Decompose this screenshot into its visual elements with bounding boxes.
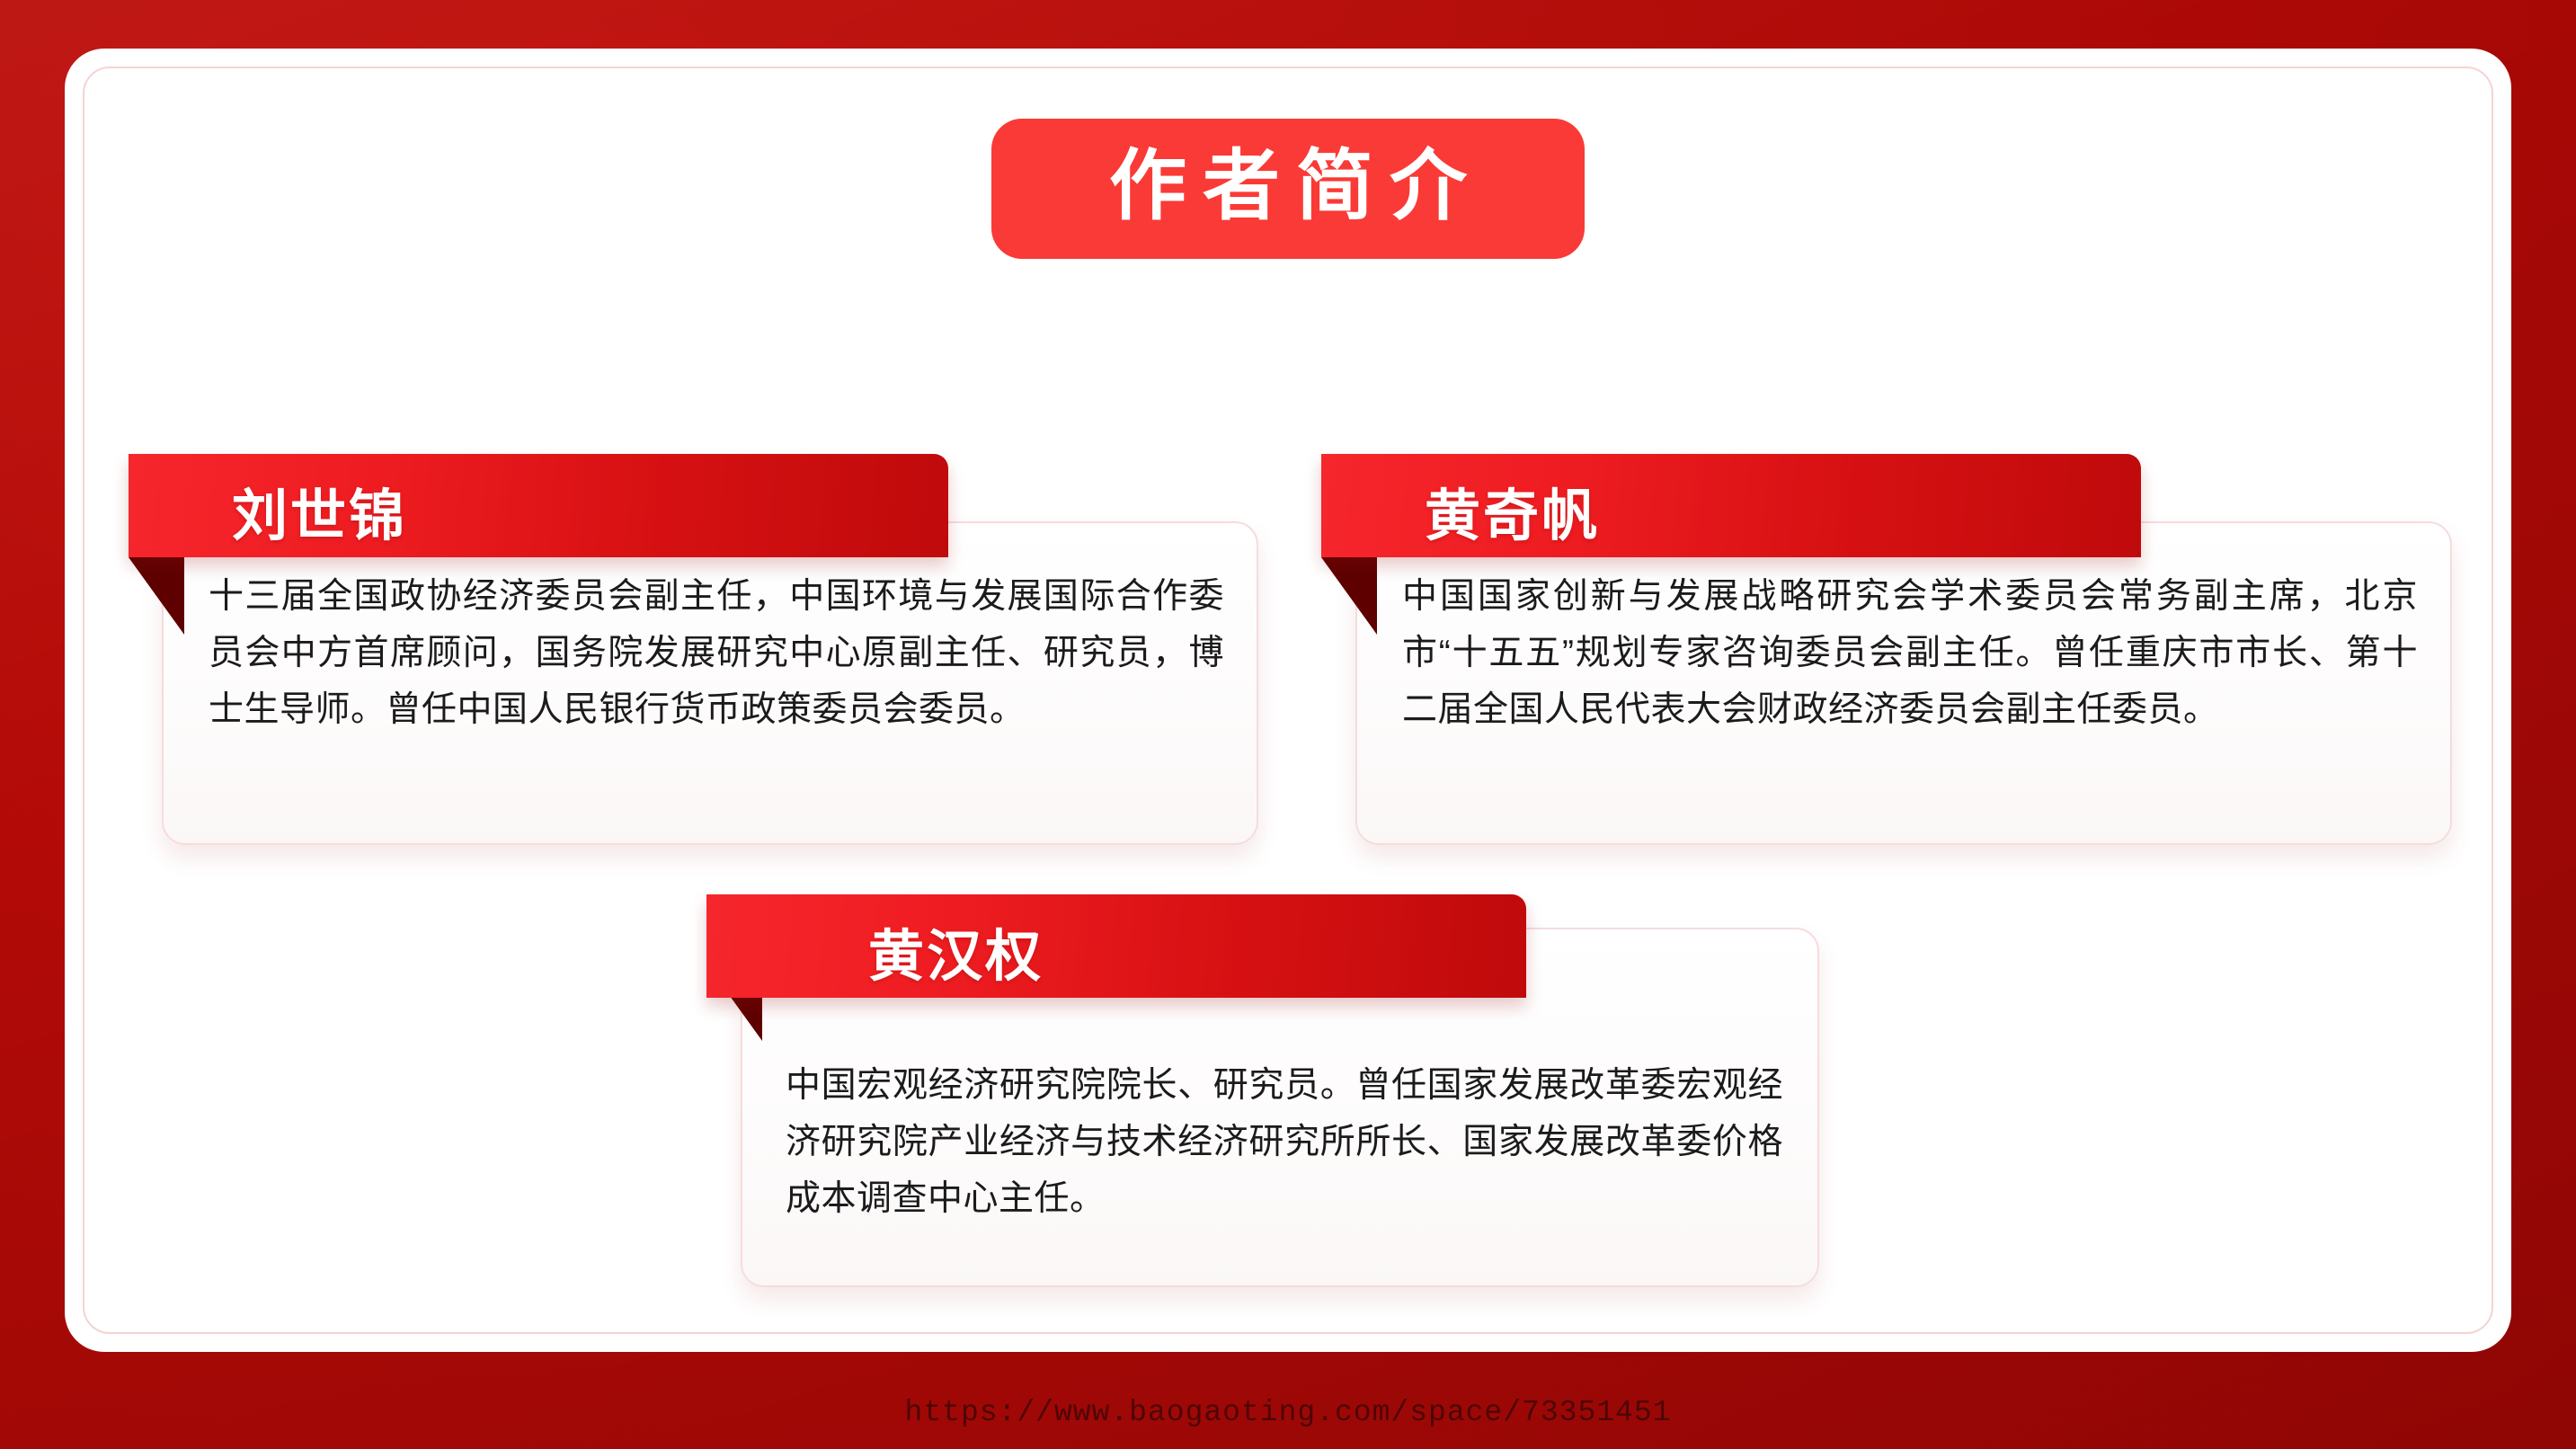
author-card-2-ribbon-fold	[1321, 557, 1377, 635]
slide-stage: 作者简介 刘世锦 十三届全国政协经济委员会副主任，中国环境与发展国际合作委员会中…	[0, 0, 2576, 1449]
author-card-1-bio: 十三届全国政协经济委员会副主任，中国环境与发展国际合作委员会中方首席顾问，国务院…	[209, 568, 1224, 739]
author-card-2-name: 黄奇帆	[1425, 470, 1600, 551]
author-card-1-ribbon: 刘世锦	[129, 454, 948, 557]
author-card-2-bio: 中国国家创新与发展战略研究会学术委员会常务副主席，北京市“十五五”规划专家咨询委…	[1402, 568, 2418, 739]
author-card-1-ribbon-fold	[129, 557, 184, 635]
page-title-container: 作者简介	[0, 119, 2576, 259]
author-card-3-bio: 中国宏观经济研究院院长、研究员。曾任国家发展改革委宏观经济研究院产业经济与技术经…	[786, 1057, 1783, 1228]
author-card-3-ribbon: 黄汉权	[706, 894, 1526, 998]
watermark-url: https://www.baogaoting.com/space/7335145…	[0, 1396, 2576, 1429]
page-title-box: 作者简介	[991, 119, 1585, 259]
author-card-3-name: 黄汉权	[868, 911, 1044, 991]
page-title: 作者简介	[1058, 146, 1518, 227]
author-card-2-ribbon: 黄奇帆	[1321, 454, 2141, 557]
author-card-1-name: 刘世锦	[232, 470, 407, 551]
